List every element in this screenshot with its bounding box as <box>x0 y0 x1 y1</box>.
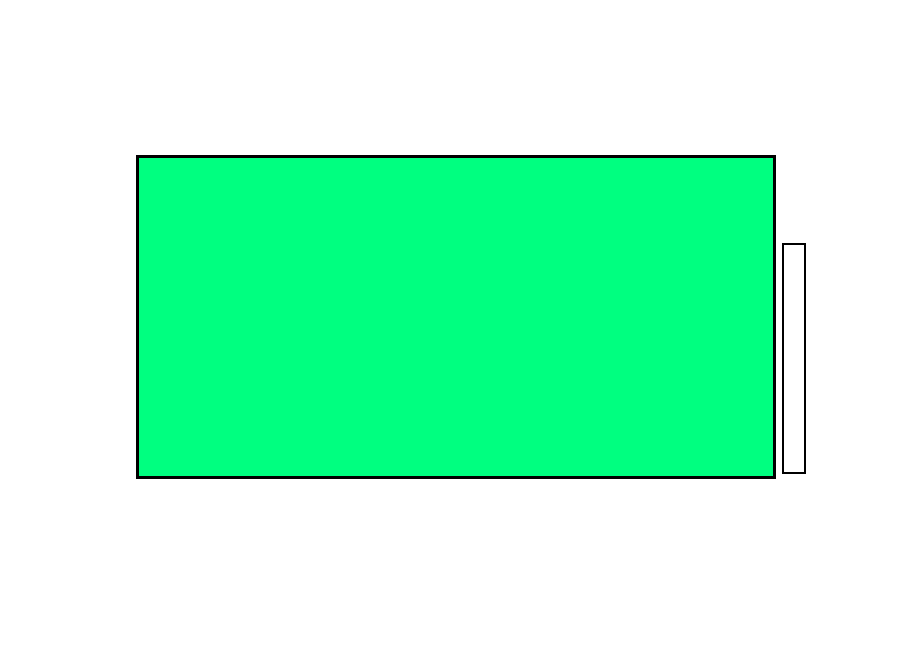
colorbar[interactable] <box>782 243 806 474</box>
contour-plot-area <box>136 155 776 479</box>
colorbar-under-arrow <box>782 473 806 519</box>
contour-field <box>139 158 773 476</box>
colorbar-over-arrow <box>782 206 806 244</box>
